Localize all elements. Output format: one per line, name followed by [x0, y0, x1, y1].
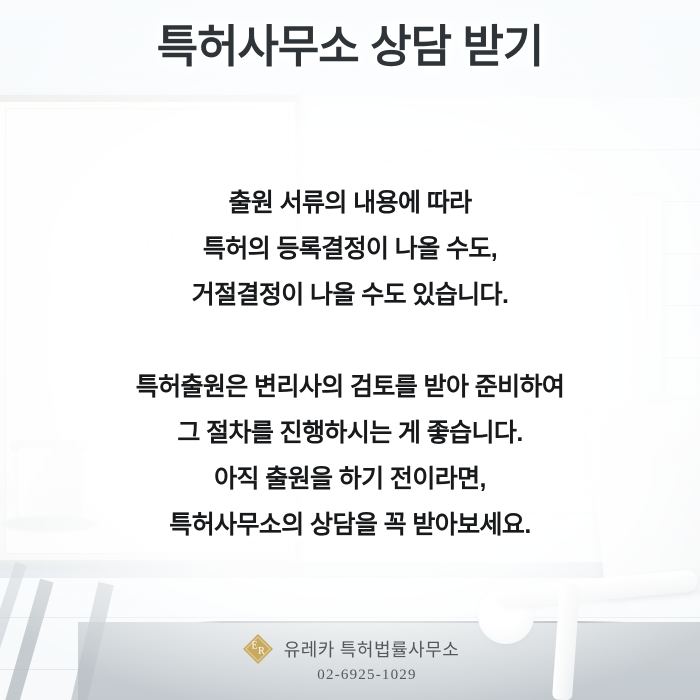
body-text-block: 출원 서류의 내용에 따라 특허의 등록결정이 나올 수도, 거절결정이 나올 …: [0, 180, 700, 548]
firm-name: 유레카 특허법률사무소: [284, 636, 460, 662]
diamond-logo-icon: E R: [241, 632, 275, 666]
promo-card: 특허사무소 상담 받기 출원 서류의 내용에 따라 특허의 등록결정이 나올 수…: [0, 0, 700, 700]
footer-lockup: E R 유레카 특허법률사무소 02-6925-1029: [0, 632, 700, 684]
svg-text:R: R: [258, 646, 265, 657]
svg-text:E: E: [251, 641, 257, 652]
body-line: 특허의 등록결정이 나올 수도,: [0, 226, 700, 272]
body-line: 특허출원은 변리사의 검토를 받아 준비하여: [0, 364, 700, 410]
body-line: 특허사무소의 상담을 꼭 받아보세요.: [0, 502, 700, 548]
body-line: 거절결정이 나올 수도 있습니다.: [0, 272, 700, 318]
body-line: 아직 출원을 하기 전이라면,: [0, 456, 700, 502]
page-title: 특허사무소 상담 받기: [0, 20, 700, 74]
card-content: 특허사무소 상담 받기 출원 서류의 내용에 따라 특허의 등록결정이 나올 수…: [0, 0, 700, 700]
footer-brand-row: E R 유레카 특허법률사무소: [241, 632, 460, 666]
firm-phone-number: 02-6925-1029: [317, 667, 416, 684]
body-line: 그 절차를 진행하시는 게 좋습니다.: [0, 410, 700, 456]
body-line: 출원 서류의 내용에 따라: [0, 180, 700, 226]
paragraph-spacer: [0, 318, 700, 364]
